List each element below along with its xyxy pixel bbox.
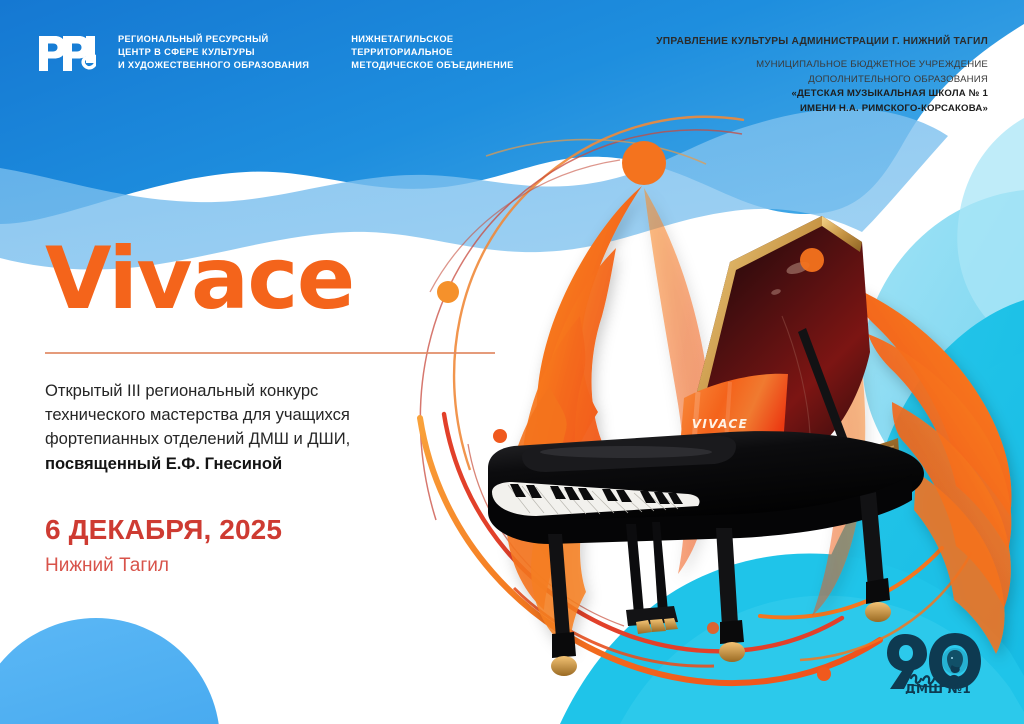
piano-illustration: VIVACE [430, 120, 1024, 700]
composer-portrait-icon [942, 648, 968, 674]
title-divider [45, 352, 495, 354]
ppl-logo-icon [38, 31, 96, 75]
event-date: 6 ДЕКАБРЯ, 2025 [45, 514, 515, 546]
ma-line-2: ТЕРРИТОРИАЛЬНОЕ [351, 46, 513, 59]
inst-line-4: ИМЕНИ Н.А. РИМСКОГО-КОРСАКОВА» [656, 102, 988, 117]
ma-line-3: МЕТОДИЧЕСКОЕ ОБЪЕДИНЕНИЕ [351, 59, 513, 72]
inst-line-2: ДОПОЛНИТЕЛЬНОГО ОБРАЗОВАНИЯ [656, 73, 988, 88]
event-city: Нижний Тагил [45, 555, 515, 577]
regional-center-name: РЕГИОНАЛЬНЫЙ РЕСУРСНЫЙ ЦЕНТР В СФЕРЕ КУЛ… [118, 30, 309, 73]
piano-leg-front-right [716, 528, 738, 626]
desc-line-1: Открытый III региональный конкурс [45, 379, 515, 403]
desc-line-3: фортепианных отделений ДМШ и ДШИ, [45, 427, 515, 451]
page-title: Vivace [45, 236, 515, 322]
blue-circle-accent [0, 618, 220, 724]
inst-line-3: «ДЕТСКАЯ МУЗЫКАЛЬНАЯ ШКОЛА № 1 [656, 87, 988, 102]
anniversary-emblem: ДМШ №1 [882, 628, 992, 694]
ma-line-1: НИЖНЕТАГИЛЬСКОЕ [351, 33, 513, 46]
phoenix-wing-left [506, 186, 713, 650]
header-right-institution: УПРАВЛЕНИЕ КУЛЬТУРЫ АДМИНИСТРАЦИИ Г. НИЖ… [656, 36, 988, 116]
event-description: Открытый III региональный конкурс технич… [45, 379, 515, 476]
main-content: Vivace Открытый III региональный конкурс… [45, 236, 515, 577]
rc-line-1: РЕГИОНАЛЬНЫЙ РЕСУРСНЫЙ [118, 33, 309, 46]
methodical-association-name: НИЖНЕТАГИЛЬСКОЕ ТЕРРИТОРИАЛЬНОЕ МЕТОДИЧЕ… [351, 30, 513, 73]
rc-line-3: И ХУДОЖЕСТВЕННОГО ОБРАЗОВАНИЯ [118, 59, 309, 72]
desc-line-4-dedication: посвященный Е.Ф. Гнесиной [45, 452, 515, 476]
institution-block: МУНИЦИПАЛЬНОЕ БЮДЖЕТНОЕ УЧРЕЖДЕНИЕ ДОПОЛ… [656, 58, 988, 116]
poster: VIVACE [0, 0, 1024, 724]
header-left-branding: РЕГИОНАЛЬНЫЙ РЕСУРСНЫЙ ЦЕНТР В СФЕРЕ КУЛ… [38, 30, 514, 75]
inst-line-1: МУНИЦИПАЛЬНОЕ БЮДЖЕТНОЕ УЧРЕЖДЕНИЕ [656, 58, 988, 73]
emblem-school-label: ДМШ №1 [905, 682, 971, 694]
rc-line-2: ЦЕНТР В СФЕРЕ КУЛЬТУРЫ [118, 46, 309, 59]
desc-line-2: технического мастерства для учащихся [45, 403, 515, 427]
culture-authority-line: УПРАВЛЕНИЕ КУЛЬТУРЫ АДМИНИСТРАЦИИ Г. НИЖ… [656, 36, 988, 47]
sheet-music-label: VIVACE [692, 417, 749, 431]
